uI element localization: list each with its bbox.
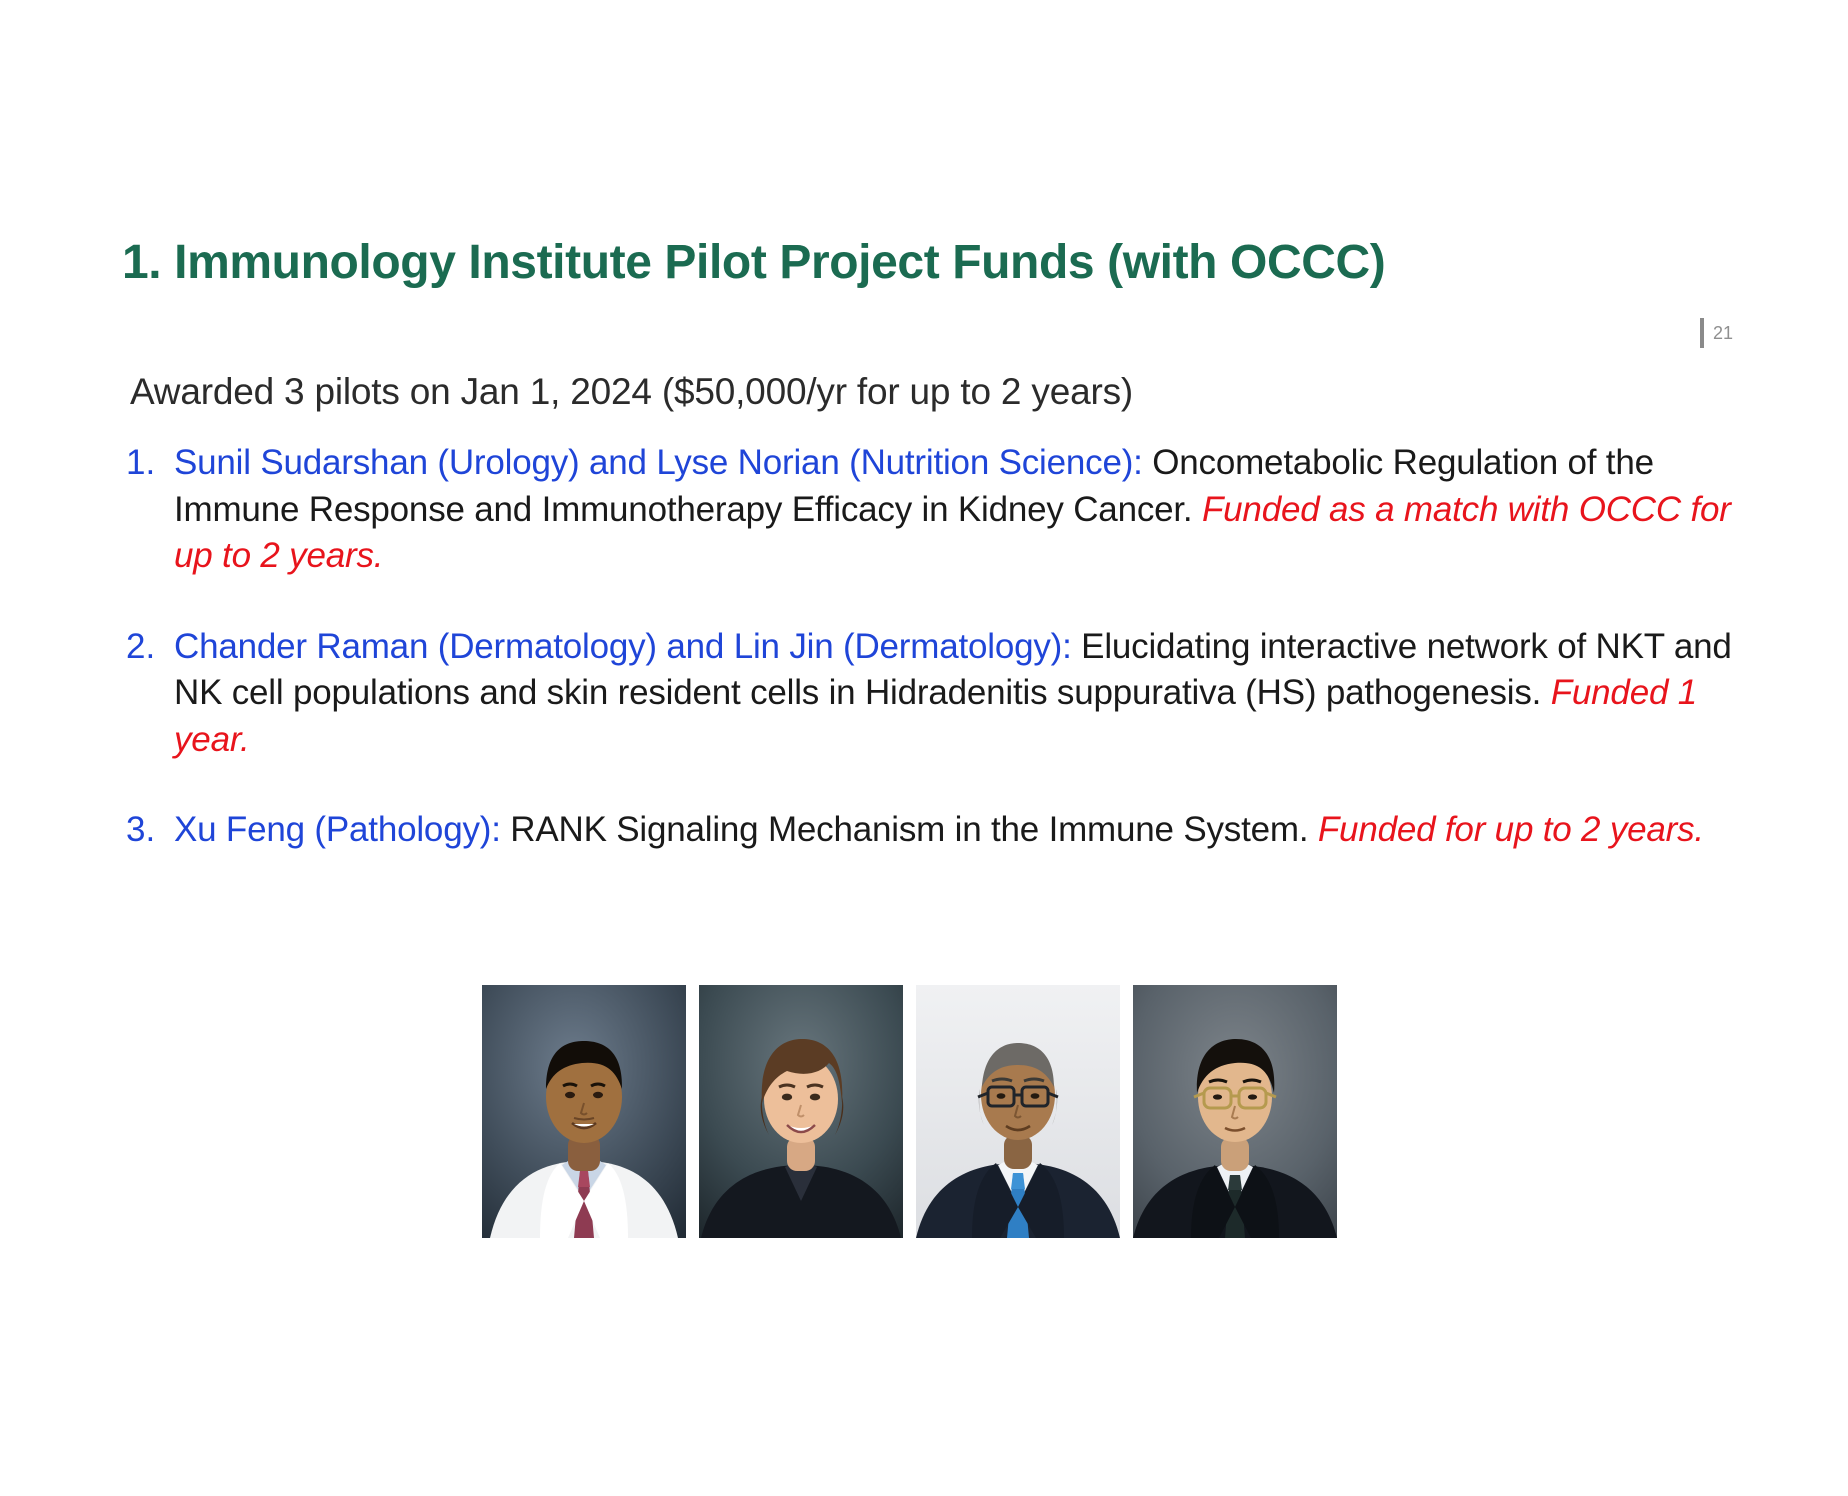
portrait-row [482,985,1337,1238]
title-row: 1. Immunology Institute Pilot Project Fu… [122,238,1762,289]
list-item: 2. Chander Raman (Dermatology) and Lin J… [126,624,1746,764]
page-number: 21 [1713,324,1733,342]
list-item-text: Chander Raman (Dermatology) and Lin Jin … [174,624,1746,764]
project-description: RANK Signaling Mechanism in the Immune S… [501,810,1318,849]
portrait-sunil-sudarshan [482,985,686,1238]
investigator-names: Chander Raman (Dermatology) and Lin Jin … [174,627,1072,666]
portrait-chander-raman [916,985,1120,1238]
list-item-marker: 3. [126,807,174,854]
page-number-divider [1700,318,1704,348]
funding-note: Funded for up to 2 years. [1318,810,1704,849]
investigator-names: Sunil Sudarshan (Urology) and Lyse Noria… [174,443,1143,482]
investigator-names: Xu Feng (Pathology): [174,810,501,849]
list-item-text: Xu Feng (Pathology): RANK Signaling Mech… [174,807,1746,854]
pilot-projects-list: 1. Sunil Sudarshan (Urology) and Lyse No… [126,440,1746,854]
list-item: 1. Sunil Sudarshan (Urology) and Lyse No… [126,440,1746,580]
portrait-lyse-norian [699,985,903,1238]
list-item: 3. Xu Feng (Pathology): RANK Signaling M… [126,807,1746,854]
slide-canvas: 1. Immunology Institute Pilot Project Fu… [0,0,1848,1496]
subtitle: Awarded 3 pilots on Jan 1, 2024 ($50,000… [130,371,1133,413]
portrait-xu-feng [1133,985,1337,1238]
list-item-text: Sunil Sudarshan (Urology) and Lyse Noria… [174,440,1746,580]
list-item-marker: 1. [126,440,174,487]
list-item-marker: 2. [126,624,174,671]
page-title: 1. Immunology Institute Pilot Project Fu… [122,238,1385,289]
page-number-group: 21 [1700,318,1733,348]
